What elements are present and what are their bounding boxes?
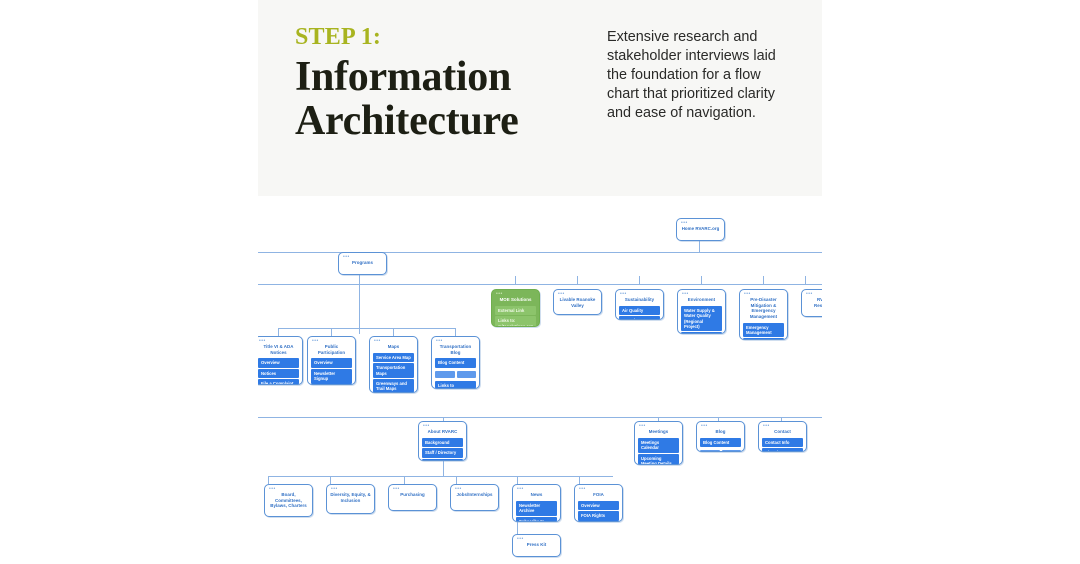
band-lower xyxy=(258,417,822,418)
node-handle-icon: ••• xyxy=(436,339,443,344)
node-row[interactable]: File a Complaint xyxy=(258,379,299,385)
node-row[interactable]: Links to Transportation Category of Blog xyxy=(435,381,476,389)
node-livable-roanoke-valley[interactable]: ••• Livable Roanoke Valley xyxy=(553,289,602,315)
node-row[interactable]: Blog Content xyxy=(700,438,741,447)
node-blog[interactable]: ••• Blog Blog Content xyxy=(696,421,745,452)
node-rows: Newsletter Archive Subscribe to Newslett… xyxy=(513,501,560,522)
connector xyxy=(579,476,580,484)
node-handle-icon: ••• xyxy=(423,424,430,429)
connector xyxy=(763,276,764,285)
node-rows: Water Supply & Water Quality (Regional P… xyxy=(678,306,725,334)
connector xyxy=(331,328,332,336)
node-row[interactable]: Contact Info xyxy=(762,438,803,447)
node-handle-icon: ••• xyxy=(343,255,350,260)
node-handle-icon: ••• xyxy=(763,424,770,429)
connector xyxy=(268,476,269,484)
node-row[interactable]: External Link xyxy=(495,306,536,315)
slide-description: Extensive research and stakeholder inter… xyxy=(607,28,792,123)
connector xyxy=(455,328,456,336)
node-handle-icon: ••• xyxy=(517,537,524,542)
connector xyxy=(359,274,360,284)
node-handle-icon: ••• xyxy=(681,221,688,226)
node-public-participation[interactable]: ••• Public Participation Overview Newsle… xyxy=(307,336,356,385)
node-handle-icon: ••• xyxy=(259,339,266,344)
node-handle-icon: ••• xyxy=(620,292,627,297)
node-programs[interactable]: ••• Programs xyxy=(338,252,387,275)
node-maps[interactable]: ••• Maps Service Area Map Transportation… xyxy=(369,336,418,393)
node-row[interactable]: Overview xyxy=(619,316,660,320)
node-jobs-internships[interactable]: ••• Jobs/Internships xyxy=(450,484,499,511)
node-rows: Links to Transportation Category of Blog xyxy=(432,381,479,389)
connector xyxy=(330,476,331,484)
connector xyxy=(577,276,578,285)
connector xyxy=(701,276,702,285)
node-row[interactable]: Water Supply & Water Quality (Regional P… xyxy=(681,306,722,332)
node-rows: Emergency Management Disaster Mitigation xyxy=(740,323,787,341)
node-news[interactable]: ••• News Newsletter Archive Subscribe to… xyxy=(512,484,561,522)
node-row[interactable]: Disaster Mitigation xyxy=(743,338,784,340)
node-row[interactable]: Newsletter Archive xyxy=(516,501,557,516)
node-dei[interactable]: ••• Diversity, Equity, & Inclusion xyxy=(326,484,375,514)
node-handle-icon: ••• xyxy=(496,292,503,297)
connector xyxy=(805,276,806,285)
node-rv-data-resources[interactable]: ••• RV Data Resources xyxy=(801,289,822,317)
node-handle-icon: ••• xyxy=(579,487,586,492)
node-rows: Blog Content xyxy=(697,438,744,450)
connector xyxy=(517,476,518,484)
node-row[interactable]: Emergency Management xyxy=(743,323,784,338)
node-contact[interactable]: ••• Contact Contact Info Directions xyxy=(758,421,807,452)
flowchart-canvas[interactable]: ••• Home RVARC.org ••• Programs ••• MOE … xyxy=(258,196,822,564)
node-handle-icon: ••• xyxy=(455,487,462,492)
node-row[interactable]: Overview xyxy=(578,501,619,510)
node-media-placeholder xyxy=(432,371,479,381)
node-rows: Contact Info Directions xyxy=(759,438,806,452)
connector xyxy=(404,476,405,484)
node-handle-icon: ••• xyxy=(744,292,751,297)
node-rows: Overview Notices File a Complaint xyxy=(258,358,302,385)
node-rows: Background Staff / Directory RVARC Work … xyxy=(419,438,466,461)
node-rows: Air Quality Overview xyxy=(616,306,663,320)
connector xyxy=(699,240,700,252)
node-title-vi-ada[interactable]: ••• Title VI & ADA Notices Overview Noti… xyxy=(258,336,303,385)
node-row[interactable]: Blog Content xyxy=(435,358,476,367)
connector xyxy=(268,476,613,477)
connector xyxy=(278,328,456,329)
node-purchasing[interactable]: ••• Purchasing xyxy=(388,484,437,511)
node-handle-icon: ••• xyxy=(682,292,689,297)
node-handle-icon: ••• xyxy=(806,292,813,297)
node-environment[interactable]: ••• Environment Water Supply & Water Qua… xyxy=(677,289,726,334)
node-board-committees[interactable]: ••• Board, Committees, Bylaws, Charters xyxy=(264,484,313,517)
node-rows: Meetings Calendar Upcoming Meeting Detai… xyxy=(635,438,682,465)
node-handle-icon: ••• xyxy=(393,487,400,492)
node-row[interactable]: Air Quality xyxy=(619,306,660,315)
connector xyxy=(515,276,516,285)
node-handle-icon: ••• xyxy=(374,339,381,344)
connector xyxy=(517,521,518,534)
node-handle-icon: ••• xyxy=(558,292,565,297)
page-title: Information Architecture xyxy=(295,56,565,143)
node-row[interactable]: Meetings Calendar xyxy=(638,438,679,453)
node-sustainability[interactable]: ••• Sustainability Air Quality Overview xyxy=(615,289,664,320)
node-handle-icon: ••• xyxy=(331,487,338,492)
node-rows: Overview Newsletter Signup Previous Part… xyxy=(308,358,355,385)
node-rows: External Link Links to: mitesolutions.or… xyxy=(492,306,539,327)
connector xyxy=(359,284,360,334)
node-row[interactable]: RVARC Work Program (include archive of l… xyxy=(422,459,463,461)
node-row[interactable]: Staff / Directory xyxy=(422,448,463,457)
node-row[interactable]: Upcoming Meeting Details xyxy=(638,454,679,465)
screenshot-root: STEP 1: Information Architecture Extensi… xyxy=(0,0,1080,564)
node-media-placeholder xyxy=(697,450,744,452)
connector xyxy=(456,476,457,484)
node-about-rvarc[interactable]: ••• About RVARC Background Staff / Direc… xyxy=(418,421,467,461)
node-row[interactable]: Background xyxy=(422,438,463,447)
node-handle-icon: ••• xyxy=(517,487,524,492)
node-row[interactable]: Transportation Maps xyxy=(373,363,414,378)
node-meetings[interactable]: ••• Meetings Meetings Calendar Upcoming … xyxy=(634,421,683,465)
connector xyxy=(278,328,279,336)
node-rows: Blog Content xyxy=(432,358,479,370)
node-transportation-blog[interactable]: ••• Transportation Blog Blog Content Lin… xyxy=(431,336,480,389)
connector xyxy=(443,460,444,476)
node-moe-solutions[interactable]: ••• MOE Solutions External Link Links to… xyxy=(491,289,540,327)
node-home[interactable]: ••• Home RVARC.org xyxy=(676,218,725,241)
node-row[interactable]: FOIA Rights xyxy=(578,511,619,520)
node-row[interactable]: Service Area Map xyxy=(373,353,414,362)
node-foia[interactable]: ••• FOIA Overview FOIA Rights Send Reque… xyxy=(574,484,623,522)
node-row[interactable]: Greenways and Trail Maps xyxy=(373,379,414,393)
node-pre-disaster-mitigation[interactable]: ••• Pre-Disaster Mitigation & Emergency … xyxy=(739,289,788,340)
node-rows: Overview FOIA Rights Send Request xyxy=(575,501,622,522)
node-row[interactable]: Overview xyxy=(311,358,352,367)
node-row[interactable]: Subscribe to Newsletter xyxy=(516,517,557,522)
band-mid xyxy=(258,284,822,285)
node-handle-icon: ••• xyxy=(639,424,646,429)
node-handle-icon: ••• xyxy=(312,339,319,344)
node-row[interactable]: Newsletter Signup xyxy=(311,369,352,384)
node-handle-icon: ••• xyxy=(269,487,276,492)
slide-panel: STEP 1: Information Architecture Extensi… xyxy=(258,0,822,564)
node-rows: Service Area Map Transportation Maps Gre… xyxy=(370,353,417,393)
node-row[interactable]: Notices xyxy=(258,369,299,378)
node-row[interactable]: Directions xyxy=(762,448,803,452)
node-handle-icon: ••• xyxy=(701,424,708,429)
node-row[interactable]: Overview xyxy=(258,358,299,367)
node-row[interactable]: Links to: mitesolutions.org xyxy=(495,316,536,327)
connector xyxy=(639,276,640,285)
node-row[interactable]: Urban Forestry (Regional Project) xyxy=(681,332,722,334)
node-press-kit[interactable]: ••• Press Kit xyxy=(512,534,561,557)
connector xyxy=(393,328,394,336)
